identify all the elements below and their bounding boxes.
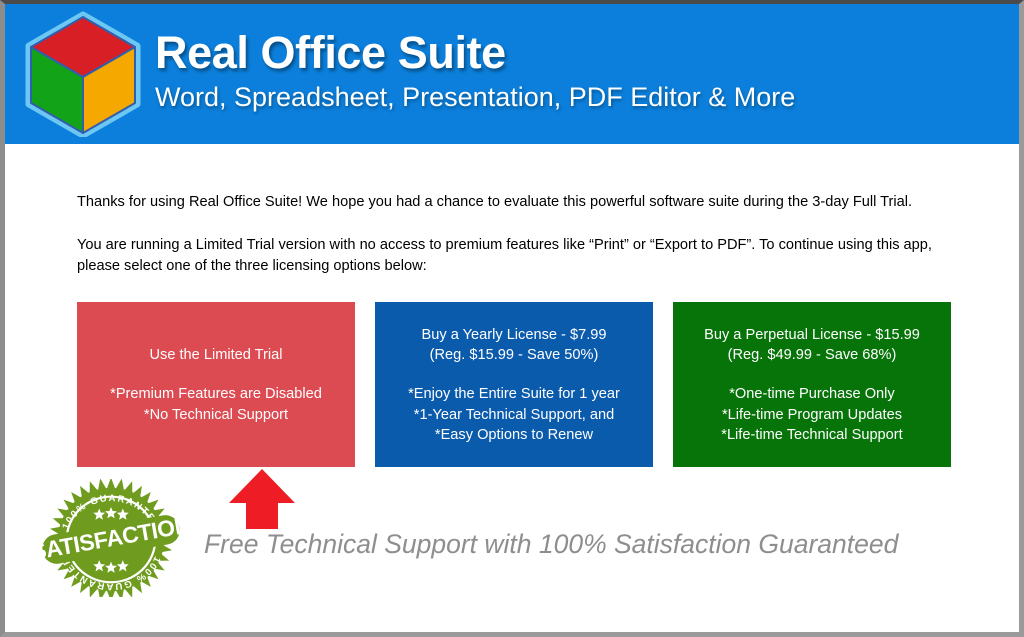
option-benefit-line: *Life-time Technical Support bbox=[721, 425, 902, 445]
option-benefit-line: *Life-time Program Updates bbox=[721, 405, 902, 425]
option-card-yearly-license[interactable]: Buy a Yearly License - $7.99 (Reg. $15.9… bbox=[375, 302, 653, 467]
option-heading-limited-trial: Use the Limited Trial bbox=[149, 345, 282, 365]
option-heading-line: Use the Limited Trial bbox=[149, 345, 282, 365]
header-text-block: Real Office Suite Word, Spreadsheet, Pre… bbox=[155, 29, 795, 119]
option-card-perpetual-license[interactable]: Buy a Perpetual License - $15.99 (Reg. $… bbox=[673, 302, 951, 467]
option-card-limited-trial[interactable]: Use the Limited Trial *Premium Features … bbox=[77, 302, 355, 467]
satisfaction-guarantee-seal-icon: 100% GUARANTEE 100% GUARANTEE bbox=[37, 479, 185, 597]
footer-zone: 100% GUARANTEE 100% GUARANTEE bbox=[77, 467, 955, 599]
option-benefit-line: *1-Year Technical Support, and bbox=[408, 405, 620, 425]
option-heading-line: Buy a Perpetual License - $15.99 bbox=[704, 325, 920, 345]
header-banner: Real Office Suite Word, Spreadsheet, Pre… bbox=[5, 4, 1019, 144]
body-area: Thanks for using Real Office Suite! We h… bbox=[5, 144, 1019, 632]
option-benefits-yearly-license: *Enjoy the Entire Suite for 1 year *1-Ye… bbox=[408, 384, 620, 444]
arrow-up-icon bbox=[227, 467, 297, 531]
option-heading-line: (Reg. $15.99 - Save 50%) bbox=[422, 345, 607, 365]
option-benefit-line: *Easy Options to Renew bbox=[408, 425, 620, 445]
cube-logo-icon bbox=[23, 9, 143, 137]
option-benefit-line: *No Technical Support bbox=[110, 405, 322, 425]
licensing-options-row: Use the Limited Trial *Premium Features … bbox=[77, 302, 955, 467]
app-subtitle: Word, Spreadsheet, Presentation, PDF Edi… bbox=[155, 80, 795, 115]
option-heading-line: (Reg. $49.99 - Save 68%) bbox=[704, 345, 920, 365]
option-benefit-line: *Premium Features are Disabled bbox=[110, 384, 322, 404]
option-heading-yearly-license: Buy a Yearly License - $7.99 (Reg. $15.9… bbox=[422, 325, 607, 365]
option-benefits-perpetual-license: *One-time Purchase Only *Life-time Progr… bbox=[721, 384, 902, 444]
app-window: Real Office Suite Word, Spreadsheet, Pre… bbox=[0, 0, 1024, 637]
app-title: Real Office Suite bbox=[155, 29, 795, 76]
option-benefit-line: *Enjoy the Entire Suite for 1 year bbox=[408, 384, 620, 404]
option-benefits-limited-trial: *Premium Features are Disabled *No Techn… bbox=[110, 384, 322, 424]
intro-paragraph: Thanks for using Real Office Suite! We h… bbox=[77, 144, 939, 213]
option-heading-line: Buy a Yearly License - $7.99 bbox=[422, 325, 607, 345]
option-benefit-line: *One-time Purchase Only bbox=[721, 384, 902, 404]
support-tagline: Free Technical Support with 100% Satisfa… bbox=[204, 529, 898, 560]
option-heading-perpetual-license: Buy a Perpetual License - $15.99 (Reg. $… bbox=[704, 325, 920, 365]
trial-notice-paragraph: You are running a Limited Trial version … bbox=[77, 213, 939, 277]
